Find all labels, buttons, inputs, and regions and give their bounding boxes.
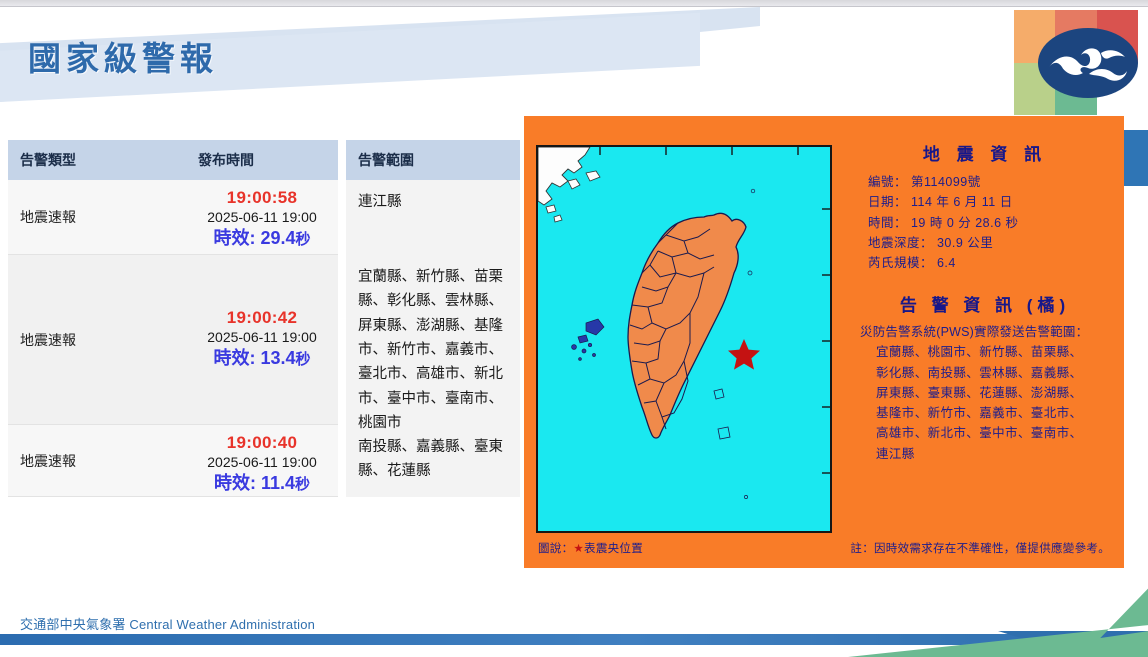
legend-prefix: 圖說： bbox=[538, 543, 573, 555]
cell-alert-scope: 連江縣 bbox=[346, 180, 520, 255]
warning-scope-line: 基隆市、新竹市、嘉義市、臺北市、 bbox=[854, 403, 1116, 423]
table-row[interactable]: 地震速報 19:00:58 2025-06-11 19:00 時效: 29.4秒 bbox=[8, 180, 338, 255]
latency-number: 11.4 bbox=[261, 473, 295, 493]
eq-field-time: 時間： 19 時 0 分 28.6 秒 bbox=[854, 213, 1116, 233]
panel-note: 註：因時效需求存在不準確性，僅提供應變參考。 bbox=[850, 540, 1110, 556]
map-legend: 圖說：★表震央位置 bbox=[538, 540, 643, 556]
warning-lead-text: 災防告警系統(PWS)實際發送告警範圍： bbox=[854, 322, 1116, 342]
latency-unit: 秒 bbox=[295, 476, 310, 493]
slide-root: 國家級警報 告警類型 發布時間 地震速報 19:00: bbox=[0, 0, 1148, 657]
column-header-type: 告警類型 bbox=[8, 140, 186, 180]
cell-alert-scope: 南投縣、嘉義縣、臺東縣、花蓮縣 bbox=[346, 425, 520, 497]
latency-unit: 秒 bbox=[296, 231, 311, 248]
eq-field-magnitude: 芮氏規模： 6.4 bbox=[854, 253, 1116, 273]
cell-publish-time: 19:00:42 2025-06-11 19:00 時效: 13.4秒 bbox=[186, 255, 338, 424]
publish-datetime: 2025-06-11 19:00 bbox=[194, 454, 330, 472]
warning-info-title: 告 警 資 訊 (橘) bbox=[854, 291, 1116, 316]
latency-unit: 秒 bbox=[296, 351, 311, 368]
latency-label: 時效: bbox=[213, 228, 255, 248]
cell-alert-scope: 宜蘭縣、新竹縣、苗栗縣、彰化縣、雲林縣、屏東縣、澎湖縣、基隆市、新竹市、嘉義市、… bbox=[346, 255, 520, 425]
cell-alert-type: 地震速報 bbox=[8, 180, 186, 254]
logo-wave-emblem bbox=[1038, 28, 1138, 98]
warning-scope-line: 彰化縣、南投縣、雲林縣、嘉義縣、 bbox=[854, 363, 1116, 383]
warning-scope-line: 宜蘭縣、桃園市、新竹縣、苗栗縣、 bbox=[854, 342, 1116, 362]
cell-alert-type: 地震速報 bbox=[8, 255, 186, 424]
table-row[interactable]: 地震速報 19:00:40 2025-06-11 19:00 時效: 11.4秒 bbox=[8, 425, 338, 497]
table-row[interactable]: 地震速報 19:00:42 2025-06-11 19:00 時效: 13.4秒 bbox=[8, 255, 338, 425]
publish-clock: 19:00:40 bbox=[194, 432, 330, 454]
warning-scope-line: 屏東縣、臺東縣、花蓮縣、澎湖縣、 bbox=[854, 383, 1116, 403]
earthquake-info-block: 地 震 資 訊 編號： 第114099號 日期： 114 年 6 月 11 日 … bbox=[854, 140, 1116, 464]
alert-scope-column: 告警範圍 連江縣 宜蘭縣、新竹縣、苗栗縣、彰化縣、雲林縣、屏東縣、澎湖縣、基隆市… bbox=[346, 140, 520, 497]
publish-clock: 19:00:42 bbox=[194, 307, 330, 329]
legend-star-icon: ★ bbox=[573, 543, 584, 555]
earthquake-report-panel: 地 震 資 訊 編號： 第114099號 日期： 114 年 6 月 11 日 … bbox=[524, 116, 1124, 568]
alert-table: 告警類型 發布時間 地震速報 19:00:58 2025-06-11 19:00… bbox=[8, 140, 338, 497]
legend-text: 表震央位置 bbox=[584, 543, 643, 555]
earthquake-info-title: 地 震 資 訊 bbox=[854, 140, 1116, 165]
publish-clock: 19:00:58 bbox=[194, 187, 330, 209]
latency-value: 時效: 13.4秒 bbox=[194, 347, 330, 370]
footer-agency-name: 交通部中央氣象署 Central Weather Administration bbox=[20, 614, 315, 633]
cell-publish-time: 19:00:40 2025-06-11 19:00 時效: 11.4秒 bbox=[186, 425, 338, 496]
column-header-time: 發布時間 bbox=[186, 140, 338, 180]
column-header-scope: 告警範圍 bbox=[346, 140, 520, 180]
latency-number: 29.4 bbox=[260, 228, 295, 248]
publish-datetime: 2025-06-11 19:00 bbox=[194, 329, 330, 347]
warning-scope-line: 高雄市、新北市、臺中市、臺南市、 bbox=[854, 423, 1116, 443]
cwa-logo bbox=[1014, 10, 1138, 115]
cell-alert-type: 地震速報 bbox=[8, 425, 186, 496]
alert-table-header-row: 告警類型 發布時間 bbox=[8, 140, 338, 180]
eq-field-depth: 地震深度： 30.9 公里 bbox=[854, 233, 1116, 253]
taiwan-map[interactable] bbox=[536, 145, 832, 533]
footer-blue-bar bbox=[0, 634, 1148, 645]
latency-label: 時效: bbox=[213, 348, 255, 368]
latency-label: 時效: bbox=[214, 473, 256, 493]
latency-value: 時效: 29.4秒 bbox=[194, 227, 330, 250]
latency-number: 13.4 bbox=[260, 348, 295, 368]
eq-field-date: 日期： 114 年 6 月 11 日 bbox=[854, 192, 1116, 212]
publish-datetime: 2025-06-11 19:00 bbox=[194, 209, 330, 227]
warning-scope-line: 連江縣 bbox=[854, 444, 1116, 464]
window-top-strip bbox=[0, 0, 1148, 7]
cell-publish-time: 19:00:58 2025-06-11 19:00 時效: 29.4秒 bbox=[186, 180, 338, 254]
eq-field-id: 編號： 第114099號 bbox=[854, 172, 1116, 192]
latency-value: 時效: 11.4秒 bbox=[194, 472, 330, 495]
page-title: 國家級警報 bbox=[28, 32, 218, 80]
